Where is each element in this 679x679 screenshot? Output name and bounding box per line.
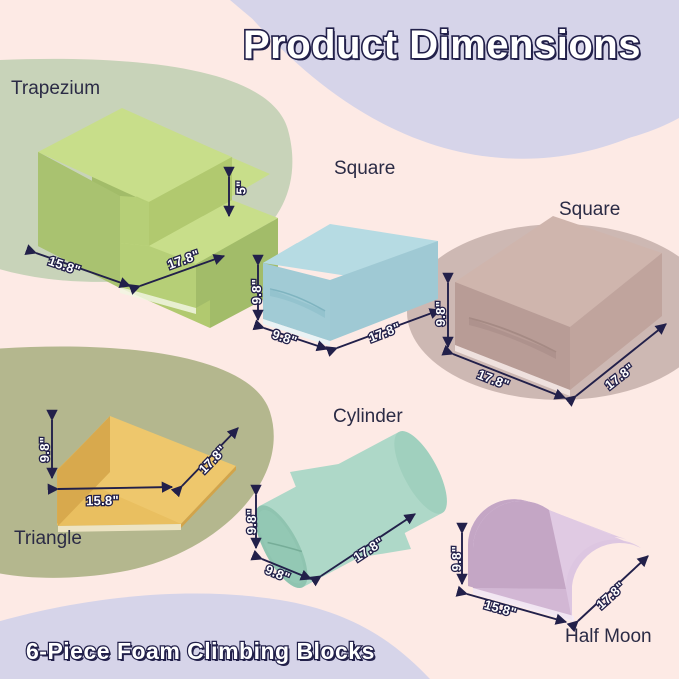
- shape-label-triangle: Triangle: [14, 528, 82, 550]
- dim-square-pink-height: 9.8": [433, 301, 448, 326]
- dim-triangle-width: 15.8": [86, 493, 119, 509]
- dim-cylinder-height: 9.8": [244, 509, 259, 534]
- shape-square-teal: [263, 224, 438, 346]
- dim-square-teal-height: 9.8": [249, 279, 264, 304]
- page-title: Product Dimensions: [243, 22, 641, 68]
- shape-illustrations: [0, 0, 679, 679]
- shape-label-square-pink: Square: [559, 199, 620, 221]
- shape-label-square-teal: Square: [334, 158, 395, 180]
- dim-halfmoon-height: 9.8": [449, 546, 464, 571]
- footer-title: 6-Piece Foam Climbing Blocks: [26, 637, 375, 665]
- shape-triangle: [57, 416, 236, 532]
- shape-label-trapezium: Trapezium: [11, 78, 100, 100]
- product-dimensions-infographic: Product Dimensions 6-Piece Foam Climbing…: [0, 0, 679, 679]
- dim-triangle-height: 9.8": [37, 437, 52, 462]
- dim-trapezium-height: 5": [234, 181, 249, 195]
- shape-trapezium: [38, 108, 278, 328]
- shape-label-cylinder: Cylinder: [333, 406, 403, 428]
- shape-label-half-moon: Half Moon: [565, 626, 652, 648]
